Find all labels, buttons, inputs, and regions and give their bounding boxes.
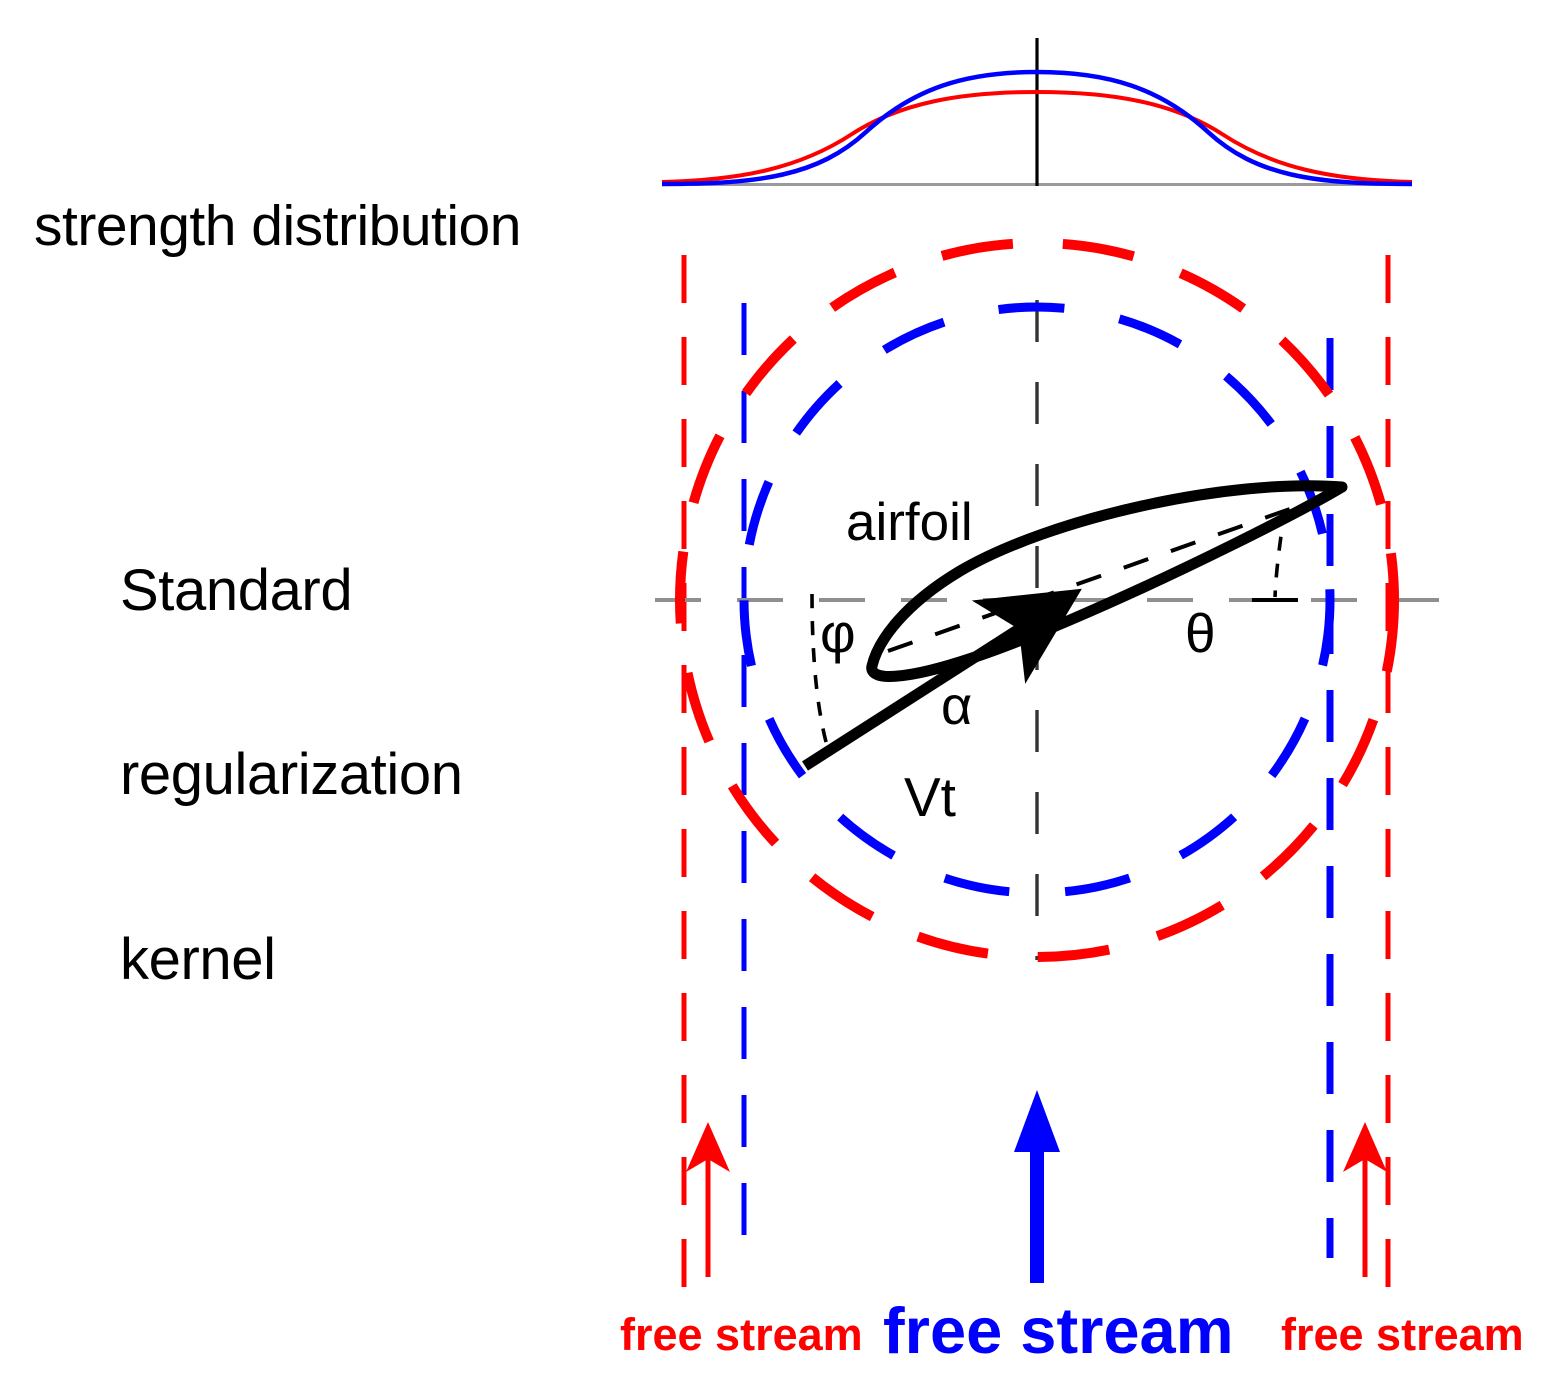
kernel-caption-line-3: kernel (120, 929, 463, 990)
free-stream-label-center: free stream (883, 1293, 1234, 1368)
airfoil-label: airfoil (846, 495, 973, 551)
alpha-angle-label: α (941, 678, 972, 735)
free-stream-label-left: free stream (620, 1309, 863, 1361)
strength-distribution-plot (662, 38, 1412, 186)
vt-velocity-label: Vt (904, 768, 956, 826)
kernel-caption-line-1: Standard (120, 560, 463, 621)
strength-distribution-label: strength distribution (34, 196, 521, 256)
free-stream-arrow-group (708, 1090, 1365, 1283)
kernel-caption: Standard regularization kernel (120, 437, 463, 1113)
free-stream-label-right: free stream (1281, 1309, 1524, 1361)
diagram-canvas: strength distribution Standard regulariz… (0, 0, 1566, 1397)
free-stream-arrow-blue-center (1014, 1090, 1060, 1283)
kernel-caption-line-2: regularization (120, 744, 463, 805)
theta-angle-label: θ (1185, 604, 1216, 662)
phi-angle-label: φ (820, 604, 856, 662)
